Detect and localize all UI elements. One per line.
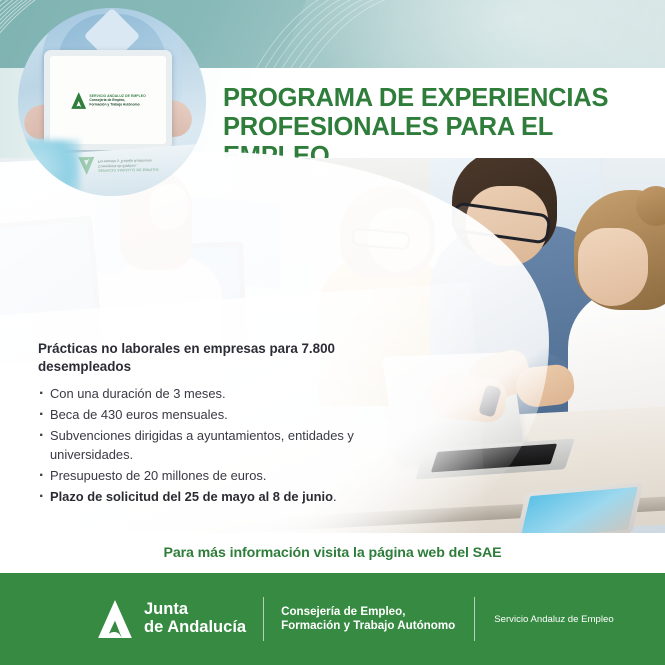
list-item: Presupuesto de 20 millones de euros.: [38, 467, 413, 486]
junta-de-andalucia-logo: Junta de Andalucía: [95, 599, 246, 639]
sae-logo-text: SERVICIO ANDALUZ DE EMPLEO Consejería de…: [89, 94, 145, 106]
badge-foreground-blur: [18, 140, 80, 196]
andalucia-a-reflection-icon: [78, 156, 95, 175]
list-item-text: Plazo de solicitud del 25 de mayo al 8 d…: [50, 489, 333, 504]
list-item-text: Subvenciones dirigidas a ayuntamientos, …: [50, 428, 354, 462]
lead-paragraph: Prácticas no laborales en empresas para …: [38, 340, 413, 376]
cta-band: Para más información visita la página we…: [0, 533, 665, 573]
list-item-text: Presupuesto de 20 millones de euros.: [50, 468, 266, 483]
list-item: Beca de 430 euros mensuales.: [38, 406, 413, 425]
andalucia-a-icon: [95, 599, 135, 639]
junta-line2: de Andalucía: [144, 619, 246, 637]
sae-logo-line3: Formación y Trabajo Autónomo: [89, 102, 145, 106]
badge-logo-reflection: SERVICIO ANDALUZ DE EMPLEO Consejería de…: [78, 155, 159, 175]
benefits-list: Con una duración de 3 meses. Beca de 430…: [38, 385, 413, 507]
list-item-text: Beca de 430 euros mensuales.: [50, 407, 228, 422]
cta-text[interactable]: Para más información visita la página we…: [163, 545, 501, 561]
person-woman-face: [578, 228, 648, 306]
organismo-label: Servicio Andaluz de Empleo: [494, 614, 613, 625]
footer-divider-1: [263, 597, 264, 641]
junta-line1: Junta: [144, 601, 246, 619]
consejeria-label: Consejería de Empleo, Formación y Trabaj…: [281, 605, 455, 633]
body-copy: Prácticas no laborales en empresas para …: [38, 340, 413, 509]
list-item-text-tail: .: [333, 489, 337, 504]
sae-logo: SERVICIO ANDALUZ DE EMPLEO Consejería de…: [71, 91, 146, 109]
footer-content: Junta de Andalucía Consejería de Empleo,…: [95, 595, 614, 643]
junta-wordmark: Junta de Andalucía: [144, 601, 246, 637]
list-item: Con una duración de 3 meses.: [38, 385, 413, 404]
andalucia-a-icon: [71, 91, 87, 109]
badge-tablet-screen: SERVICIO ANDALUZ DE EMPLEO Consejería de…: [50, 56, 166, 144]
page-title-line1: PROGRAMA DE EXPERIENCIAS: [223, 84, 608, 112]
consejeria-line2: Formación y Trabajo Autónomo: [281, 619, 455, 633]
poster-root: PROGRAMA DE EXPERIENCIAS PROFESIONALES P…: [0, 0, 665, 665]
list-item-deadline: Plazo de solicitud del 25 de mayo al 8 d…: [38, 488, 413, 507]
list-item: Subvenciones dirigidas a ayuntamientos, …: [38, 427, 413, 465]
sae-logo-line2: Consejería de Empleo,: [89, 98, 145, 102]
circular-photo-badge: SERVICIO ANDALUZ DE EMPLEO Consejería de…: [18, 8, 206, 196]
footer-divider-2: [474, 597, 475, 641]
sae-logo-line1: SERVICIO ANDALUZ DE EMPLEO: [89, 94, 145, 98]
footer: Junta de Andalucía Consejería de Empleo,…: [0, 573, 665, 665]
consejeria-line1: Consejería de Empleo,: [281, 605, 455, 619]
badge-tablet: SERVICIO ANDALUZ DE EMPLEO Consejería de…: [44, 50, 172, 150]
list-item-text: Con una duración de 3 meses.: [50, 386, 226, 401]
